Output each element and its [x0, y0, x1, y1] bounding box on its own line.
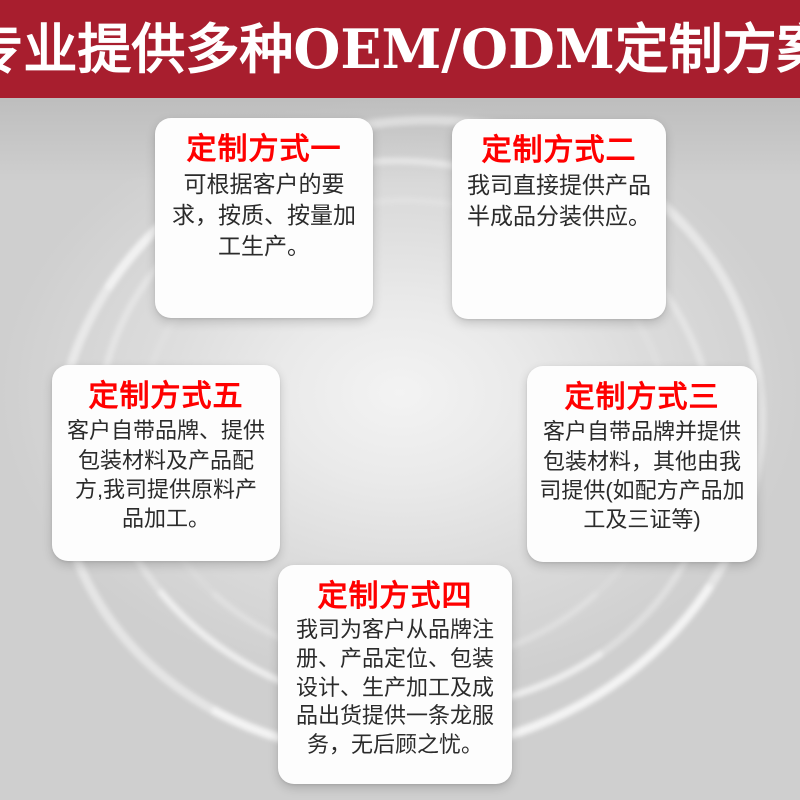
card-title-3: 定制方式三	[565, 380, 720, 415]
custom-option-card-5[interactable]: 定制方式五 客户自带品牌、提供包装材料及产品配方,我司提供原料产品加工。	[52, 365, 280, 561]
custom-option-card-1[interactable]: 定制方式一 可根据客户的要求，按质、按量加工生产。	[155, 118, 373, 318]
poster-canvas: 专业提供多种OEM/ODM定制方案 定制方式一 可根据客户的要求，按质、按量加工…	[0, 0, 800, 800]
card-body-1: 可根据客户的要求，按质、按量加工生产。	[167, 169, 361, 261]
card-title-4: 定制方式四	[318, 579, 473, 614]
custom-option-card-3[interactable]: 定制方式三 客户自带品牌并提供包装材料，其他由我司提供(如配方产品加工及三证等)	[527, 366, 757, 562]
card-body-3: 客户自带品牌并提供包装材料，其他由我司提供(如配方产品加工及三证等)	[539, 417, 745, 534]
card-body-4: 我司为客户从品牌注册、产品定位、包装设计、生产加工及成品出货提供一条龙服务，无后…	[290, 616, 500, 759]
header-banner: 专业提供多种OEM/ODM定制方案	[0, 0, 800, 98]
card-title-1: 定制方式一	[187, 132, 342, 167]
card-title-2: 定制方式二	[482, 133, 637, 168]
custom-option-card-4[interactable]: 定制方式四 我司为客户从品牌注册、产品定位、包装设计、生产加工及成品出货提供一条…	[278, 565, 512, 784]
card-body-5: 客户自带品牌、提供包装材料及产品配方,我司提供原料产品加工。	[64, 416, 268, 533]
card-body-2: 我司直接提供产品半成品分装供应。	[464, 170, 654, 231]
custom-option-card-2[interactable]: 定制方式二 我司直接提供产品半成品分装供应。	[452, 119, 666, 319]
page-title: 专业提供多种OEM/ODM定制方案	[0, 22, 800, 76]
card-title-5: 定制方式五	[89, 379, 244, 414]
